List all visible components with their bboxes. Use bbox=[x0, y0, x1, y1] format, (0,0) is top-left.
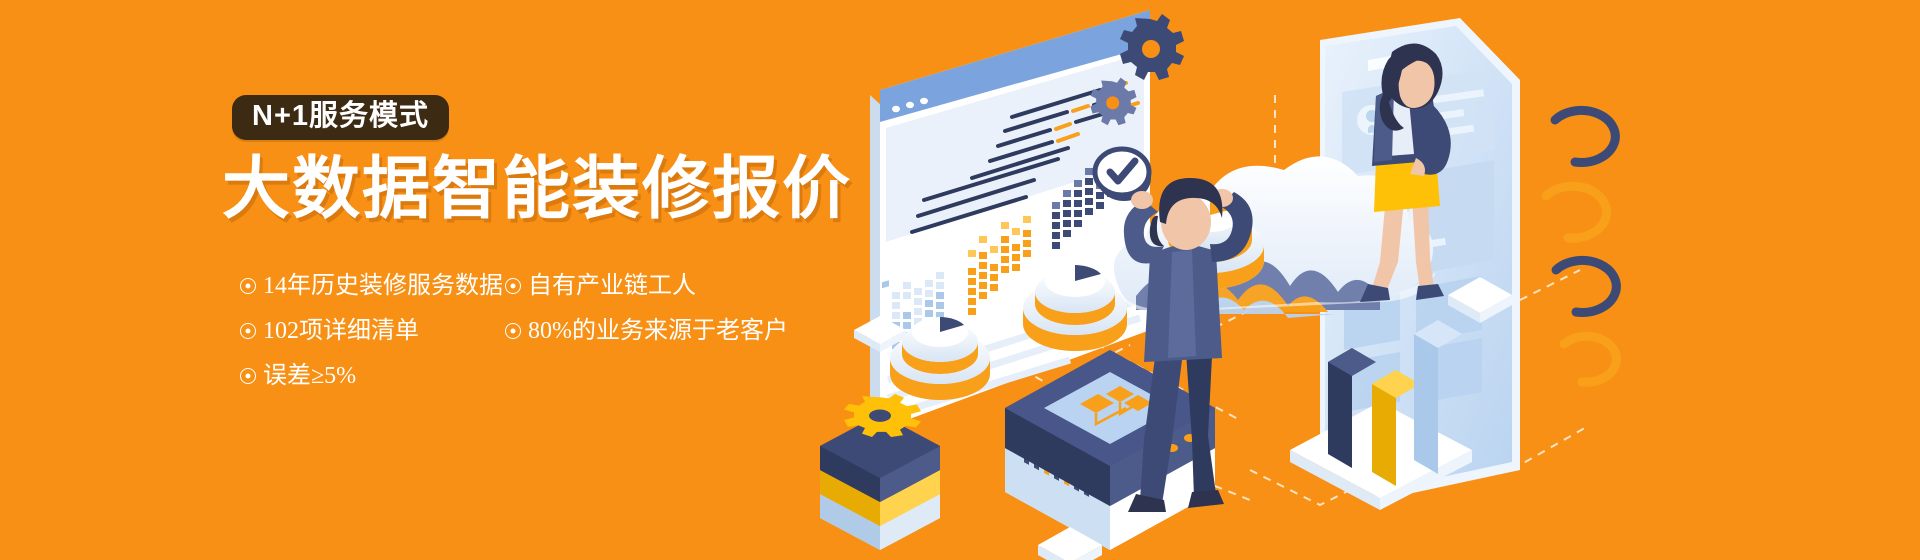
feature-label: 102项详细清单 bbox=[263, 317, 419, 345]
promo-banner: N+1服务模式 大数据智能装修报价 14年历史装修服务数据 自有产业链工人 10… bbox=[0, 0, 1920, 560]
feature-item-2: 自有产业链工人 bbox=[505, 272, 696, 300]
list-item: 102项详细清单 80%的业务来源于老客户 bbox=[240, 317, 860, 345]
server-box bbox=[1005, 350, 1215, 550]
circled-dot-icon bbox=[505, 323, 521, 339]
feature-item-1: 14年历史装修服务数据 bbox=[240, 272, 505, 300]
big-data-illustration bbox=[820, 0, 1920, 560]
feature-label: 80%的业务来源于老客户 bbox=[528, 317, 788, 345]
feature-label: 自有产业链工人 bbox=[528, 272, 696, 300]
list-item: 误差≥5% bbox=[240, 362, 860, 390]
database-stack bbox=[820, 394, 940, 550]
feature-item-4: 80%的业务来源于老客户 bbox=[505, 317, 788, 345]
feature-list: 14年历史装修服务数据 自有产业链工人 102项详细清单 80%的业务来源于老客… bbox=[240, 272, 860, 407]
circled-dot-icon bbox=[240, 323, 256, 339]
feature-item-3: 102项详细清单 bbox=[240, 317, 505, 345]
feature-label: 误差≥5% bbox=[263, 362, 356, 390]
circled-dot-icon bbox=[240, 368, 256, 384]
page-title: 大数据智能装修报价 bbox=[222, 155, 852, 223]
circled-dot-icon bbox=[240, 278, 256, 294]
banner-text-block: N+1服务模式 大数据智能装修报价 14年历史装修服务数据 自有产业链工人 10… bbox=[0, 0, 900, 560]
service-model-badge: N+1服务模式 bbox=[232, 95, 449, 140]
feature-item-5: 误差≥5% bbox=[240, 362, 505, 390]
list-item: 14年历史装修服务数据 自有产业链工人 bbox=[240, 272, 860, 300]
ring-icon bbox=[1546, 110, 1616, 382]
circled-dot-icon bbox=[505, 278, 521, 294]
feature-label: 14年历史装修服务数据 bbox=[263, 272, 503, 300]
